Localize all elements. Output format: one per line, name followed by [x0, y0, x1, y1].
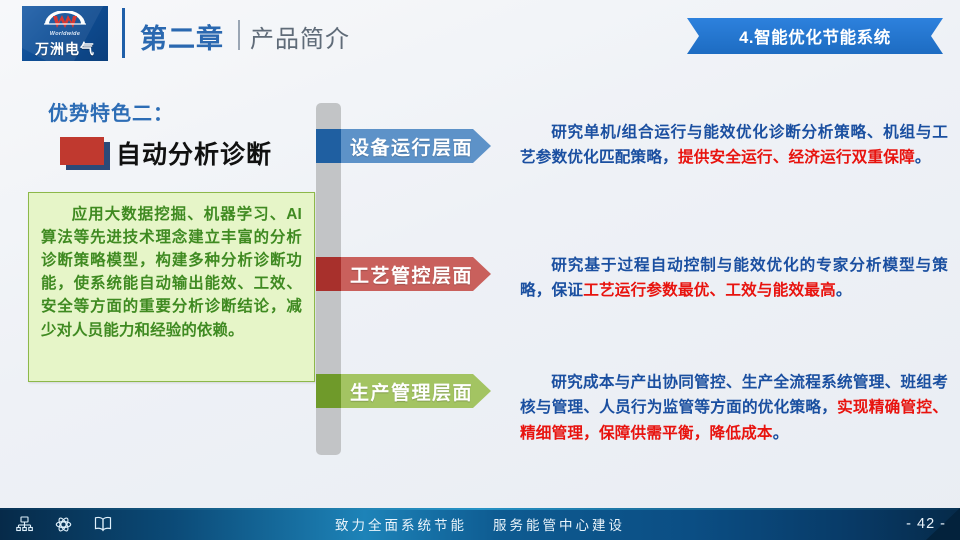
header-accent-bar: [122, 8, 125, 58]
layer-description-process: 研究基于过程自动控制与能效优化的专家分析模型与策略，保证工艺运行参数最优、工效与…: [520, 253, 948, 304]
arrow-cap: [316, 129, 341, 163]
paragraph-tail: 。: [836, 282, 852, 299]
advantage-title: 优势特色二：: [48, 97, 174, 126]
chapter-label: 第二章: [140, 17, 224, 56]
footer-slogan: 致力全面系统节能 服务能管中心建设: [0, 508, 960, 540]
footer-slogan-right: 服务能管中心建设: [493, 514, 625, 534]
feature-label: 自动分析诊断: [116, 135, 272, 171]
layer-arrow-label: 设备运行层面: [341, 129, 491, 163]
layer-description-equipment: 研究单机/组合运行与能效优化诊断分析策略、机组与工艺参数优化匹配策略，提供安全运…: [520, 120, 948, 171]
paragraph-tail: 。: [773, 425, 789, 442]
section-ribbon-label: 4.智能优化节能系统: [687, 18, 943, 54]
logo-company-name: 万洲电气: [22, 39, 108, 59]
layer-arrow-label: 工艺管控层面: [341, 257, 491, 291]
paragraph-highlight: 提供安全运行、经济运行双重保障: [678, 149, 915, 166]
paragraph-tail: 。: [915, 149, 931, 166]
slide-canvas: Worldwide 万洲电气 第二章 产品简介 4.智能优化节能系统 优势特色二…: [0, 0, 960, 540]
section-ribbon: 4.智能优化节能系统: [687, 18, 943, 54]
layer-arrow-label: 生产管理层面: [341, 374, 491, 408]
layer-description-production: 研究成本与产出协同管控、生产全流程系统管理、班组考核与管理、人员行为监管等方面的…: [520, 370, 948, 446]
company-logo: Worldwide 万洲电气: [22, 6, 108, 61]
page-number: - 42 -: [906, 508, 946, 540]
footer-slogan-left: 致力全面系统节能: [335, 514, 467, 534]
description-text: 应用大数据挖掘、机器学习、AI算法等先进技术理念建立丰富的分析诊断策略模型，构建…: [41, 203, 302, 342]
paragraph-highlight: 工艺运行参数最优、工效与能效最高: [583, 282, 836, 299]
red-square-bullet-icon: [60, 137, 104, 165]
header-separator: [238, 20, 240, 50]
description-callout: 应用大数据挖掘、机器学习、AI算法等先进技术理念建立丰富的分析诊断策略模型，构建…: [28, 192, 315, 382]
layer-arrow-process[interactable]: 工艺管控层面: [316, 257, 491, 291]
w-crown-icon: [22, 10, 108, 32]
logo-subtitle: Worldwide: [22, 31, 108, 37]
page-title: 产品简介: [250, 19, 350, 54]
arrow-cap: [316, 257, 341, 291]
arrow-cap: [316, 374, 341, 408]
layer-arrow-equipment[interactable]: 设备运行层面: [316, 129, 491, 163]
layer-arrow-production[interactable]: 生产管理层面: [316, 374, 491, 408]
footer-bar: 致力全面系统节能 服务能管中心建设 - 42 -: [0, 508, 960, 540]
